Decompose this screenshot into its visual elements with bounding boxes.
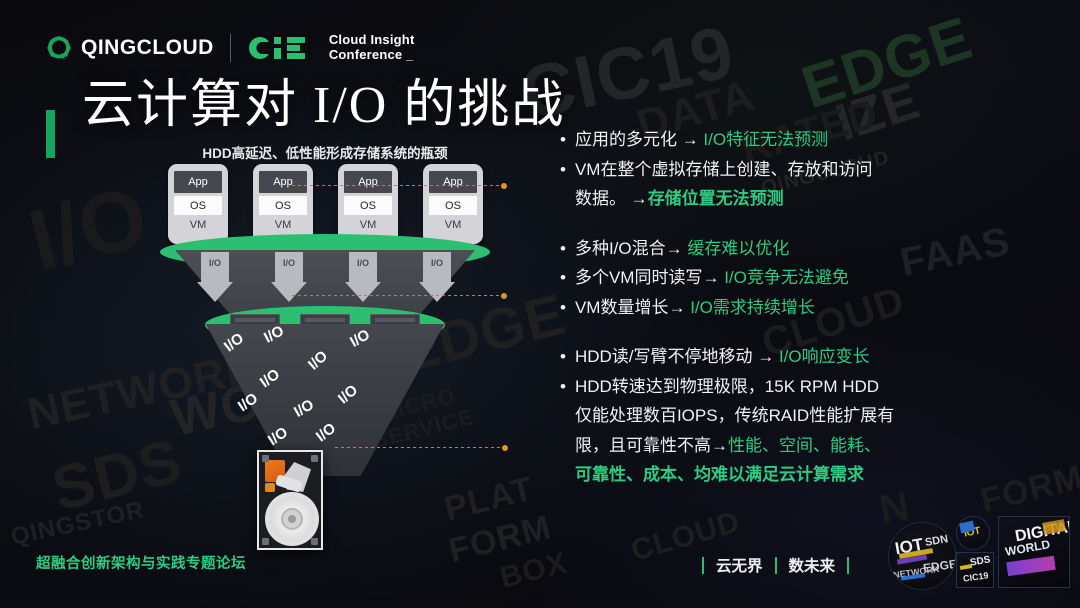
io-arrow-label: I/O xyxy=(419,258,455,268)
bullet-item: •可靠性、成本、均难以满足云计算需求 xyxy=(560,461,1030,489)
arrow-head xyxy=(197,282,233,302)
bullet-text-run: 缓存难以优化 xyxy=(687,239,789,258)
bullet-dot: • xyxy=(560,156,566,184)
event-badge: IOT xyxy=(956,516,990,550)
vm-app-label: App xyxy=(174,171,222,193)
hdd-connector xyxy=(265,483,275,492)
vm-card: App OS VM xyxy=(253,164,313,244)
title-accent-bar xyxy=(46,110,55,158)
bullet-text-run: 性能、空间、能耗、 xyxy=(728,436,881,455)
io-token: I/O xyxy=(335,382,361,408)
vm-os-label: OS xyxy=(344,196,392,215)
bullet-text: VM在整个虚拟存储上创建、存放和访问 xyxy=(575,156,873,184)
event-badge: DIGITAL WORLD DATA xyxy=(998,516,1070,588)
bullet-item: •数据。 →存储位置无法预测 xyxy=(560,185,1030,213)
bullet-item: •VM在整个虚拟存储上创建、存放和访问 xyxy=(560,156,1030,184)
connector-dot xyxy=(501,183,507,189)
badge-word: WORLD xyxy=(1004,537,1051,559)
bullet-item: •VM数量增长→ I/O需求持续增长 xyxy=(560,294,1030,322)
connector-line-mid xyxy=(292,295,504,296)
slogan-divider xyxy=(775,557,777,574)
brand-name: QINGCLOUD xyxy=(81,36,214,60)
badge-accent xyxy=(1006,556,1055,577)
vm-os-label: OS xyxy=(259,196,307,215)
io-token: I/O xyxy=(257,366,283,392)
event-badge: SDS CIC19 xyxy=(956,552,994,588)
io-arrow: I/O xyxy=(271,252,307,304)
watermark-word: QINGSTOR xyxy=(9,496,147,552)
hdd-hub xyxy=(288,515,296,523)
bullet-dot: • xyxy=(560,264,566,292)
bullet-text: 应用的多元化 → I/O特征无法预测 xyxy=(575,126,828,154)
slogan-text-1: 云无界 xyxy=(716,554,763,576)
bullet-text-run: HDD读/写臂不停地移动 → xyxy=(575,347,779,366)
vm-card: App OS VM xyxy=(168,164,228,244)
bullet-list: •应用的多元化 → I/O特征无法预测•VM在整个虚拟存储上创建、存放和访问•数… xyxy=(560,126,1030,511)
vm-card: App OS VM xyxy=(423,164,483,244)
io-token: I/O xyxy=(221,330,247,356)
bullet-text-run: 存储位置无法预测 xyxy=(648,189,784,208)
vm-label: VM xyxy=(360,219,377,231)
logo-divider xyxy=(230,34,231,62)
bullet-text-run: 限，且可靠性不高→ xyxy=(575,436,728,455)
bullet-text-run: I/O响应变长 xyxy=(779,347,870,366)
bullet-text: 限，且可靠性不高→性能、空间、能耗、 xyxy=(575,432,881,460)
vm-os-label: OS xyxy=(429,196,477,215)
bullet-text-run: 数据。 → xyxy=(575,189,648,208)
bullet-text-run: 可靠性、成本、均难以满足云计算需求 xyxy=(575,465,864,484)
event-badge-group: IOT SDN EDGE NETWORK IOT SDS CIC19 DIGIT… xyxy=(888,512,1068,588)
connector-line-top xyxy=(292,185,504,186)
connector-dot xyxy=(502,445,508,451)
vm-label: VM xyxy=(275,219,292,231)
bullet-text-run: I/O需求持续增长 xyxy=(690,298,815,317)
vm-app-label: App xyxy=(429,171,477,193)
slide: CIC19EDGEIZEDATARATEDQINGCLOUDFAASCLOUDI… xyxy=(0,0,1080,608)
badge-word: SDN xyxy=(924,533,949,549)
slogan-divider xyxy=(702,557,704,574)
io-token: I/O xyxy=(313,420,339,446)
conference-name: Cloud Insight Conference _ xyxy=(329,33,415,62)
watermark-word: EDGE xyxy=(794,3,981,122)
bullet-item: •多种I/O混合→ 缓存难以优化 xyxy=(560,235,1030,263)
hdd-screw xyxy=(311,538,318,545)
bullet-item: •限，且可靠性不高→性能、空间、能耗、 xyxy=(560,432,1030,460)
io-bottleneck-diagram: HDD高延迟、低性能形成存储系统的瓶颈 App OS VMApp OS VMAp… xyxy=(150,142,500,562)
bullet-text-run: I/O特征无法预测 xyxy=(703,130,828,149)
io-token: I/O xyxy=(235,390,261,415)
bullet-text: 可靠性、成本、均难以满足云计算需求 xyxy=(575,461,864,489)
bullet-item: •HDD读/写臂不停地移动 → I/O响应变长 xyxy=(560,343,1030,371)
bullet-dot: • xyxy=(560,126,566,154)
bullet-group: •HDD读/写臂不停地移动 → I/O响应变长•HDD转速达到物理极限，15K … xyxy=(560,343,1030,489)
arrow-head xyxy=(345,282,381,302)
watermark-word: I/O xyxy=(20,167,158,292)
io-arrow: I/O xyxy=(419,252,455,304)
slogan-text-2: 数未来 xyxy=(789,554,836,576)
bullet-text: HDD转速达到物理极限，15K RPM HDD xyxy=(575,373,879,401)
hdd-screw xyxy=(262,538,269,545)
badge-word: CIC19 xyxy=(962,570,989,583)
bullet-item: •仅能处理数百IOPS，传统RAID性能扩展有 xyxy=(560,402,1030,430)
io-token: I/O xyxy=(291,396,317,421)
bullet-text-run: 仅能处理数百IOPS，传统RAID性能扩展有 xyxy=(575,406,894,425)
bullet-dot: • xyxy=(560,235,566,263)
bullet-text-run: 应用的多元化 → xyxy=(575,130,703,149)
qingcloud-logo-icon xyxy=(46,35,72,61)
io-arrow-label: I/O xyxy=(197,258,233,268)
bullet-dot: • xyxy=(560,294,566,322)
io-token: I/O xyxy=(265,424,291,449)
hdd-photo xyxy=(257,450,323,550)
io-token: I/O xyxy=(305,347,331,373)
connector-dot xyxy=(501,293,507,299)
bullet-text-run: I/O竞争无法避免 xyxy=(724,268,849,287)
bullet-text-run: VM在整个虚拟存储上创建、存放和访问 xyxy=(575,160,873,179)
vm-label: VM xyxy=(445,219,462,231)
badge-accent xyxy=(960,564,973,570)
conference-line-2: Conference xyxy=(329,47,403,62)
bullet-text: 仅能处理数百IOPS，传统RAID性能扩展有 xyxy=(575,402,894,430)
badge-word: SDS xyxy=(969,554,991,568)
io-arrow: I/O xyxy=(197,252,233,304)
bullet-text: HDD读/写臂不停地移动 → I/O响应变长 xyxy=(575,343,870,371)
cic-logo-icon xyxy=(247,35,319,61)
diagram-caption: HDD高延迟、低性能形成存储系统的瓶颈 xyxy=(150,142,500,162)
bullet-text-run: 多个VM同时读写→ xyxy=(575,268,724,287)
io-arrow-label: I/O xyxy=(271,258,307,268)
page-title: 云计算对 I/O 的挑战 xyxy=(82,62,565,137)
connector-line-bottom xyxy=(335,447,505,448)
slogan-divider xyxy=(847,557,849,574)
bullet-text: 数据。 →存储位置无法预测 xyxy=(575,185,784,213)
bullet-item: •HDD转速达到物理极限，15K RPM HDD xyxy=(560,373,1030,401)
bullet-dot: • xyxy=(560,343,566,371)
arrow-head xyxy=(271,282,307,302)
bullet-text: 多个VM同时读写→ I/O竞争无法避免 xyxy=(575,264,849,292)
bullet-text-run: VM数量增长→ xyxy=(575,298,690,317)
vm-app-label: App xyxy=(344,171,392,193)
bullet-item: •多个VM同时读写→ I/O竞争无法避免 xyxy=(560,264,1030,292)
io-arrow-label: I/O xyxy=(345,258,381,268)
bullet-group: •多种I/O混合→ 缓存难以优化•多个VM同时读写→ I/O竞争无法避免•VM数… xyxy=(560,235,1030,322)
watermark-word: BOX xyxy=(497,546,571,595)
bullet-text-run: 多种I/O混合→ xyxy=(575,239,687,258)
conference-line-1: Cloud Insight xyxy=(329,32,415,47)
vm-label: VM xyxy=(190,219,207,231)
hdd-screw xyxy=(262,455,269,462)
hdd-screw xyxy=(311,455,318,462)
bullet-text-run: HDD转速达到物理极限，15K RPM HDD xyxy=(575,377,879,396)
bullet-text: VM数量增长→ I/O需求持续增长 xyxy=(575,294,815,322)
footer-forum-label: 超融合创新架构与实践专题论坛 xyxy=(36,552,246,573)
bullet-group: •应用的多元化 → I/O特征无法预测•VM在整个虚拟存储上创建、存放和访问•数… xyxy=(560,126,1030,213)
arrow-head xyxy=(419,282,455,302)
vm-card: App OS VM xyxy=(338,164,398,244)
vm-app-label: App xyxy=(259,171,307,193)
bullet-dot: • xyxy=(560,373,566,401)
footer-slogan: 云无界 数未来 xyxy=(702,554,849,576)
vm-os-label: OS xyxy=(174,196,222,215)
bullet-item: •应用的多元化 → I/O特征无法预测 xyxy=(560,126,1030,154)
io-arrow: I/O xyxy=(345,252,381,304)
event-badge: IOT SDN EDGE NETWORK xyxy=(888,522,956,590)
scattered-io-labels: I/OI/OI/OI/OI/OI/OI/OI/OI/OI/OI/O xyxy=(198,328,452,476)
io-token: I/O xyxy=(347,326,373,351)
io-arrow-row: I/O I/O I/O I/O xyxy=(178,252,474,308)
bullet-text: 多种I/O混合→ 缓存难以优化 xyxy=(575,235,789,263)
